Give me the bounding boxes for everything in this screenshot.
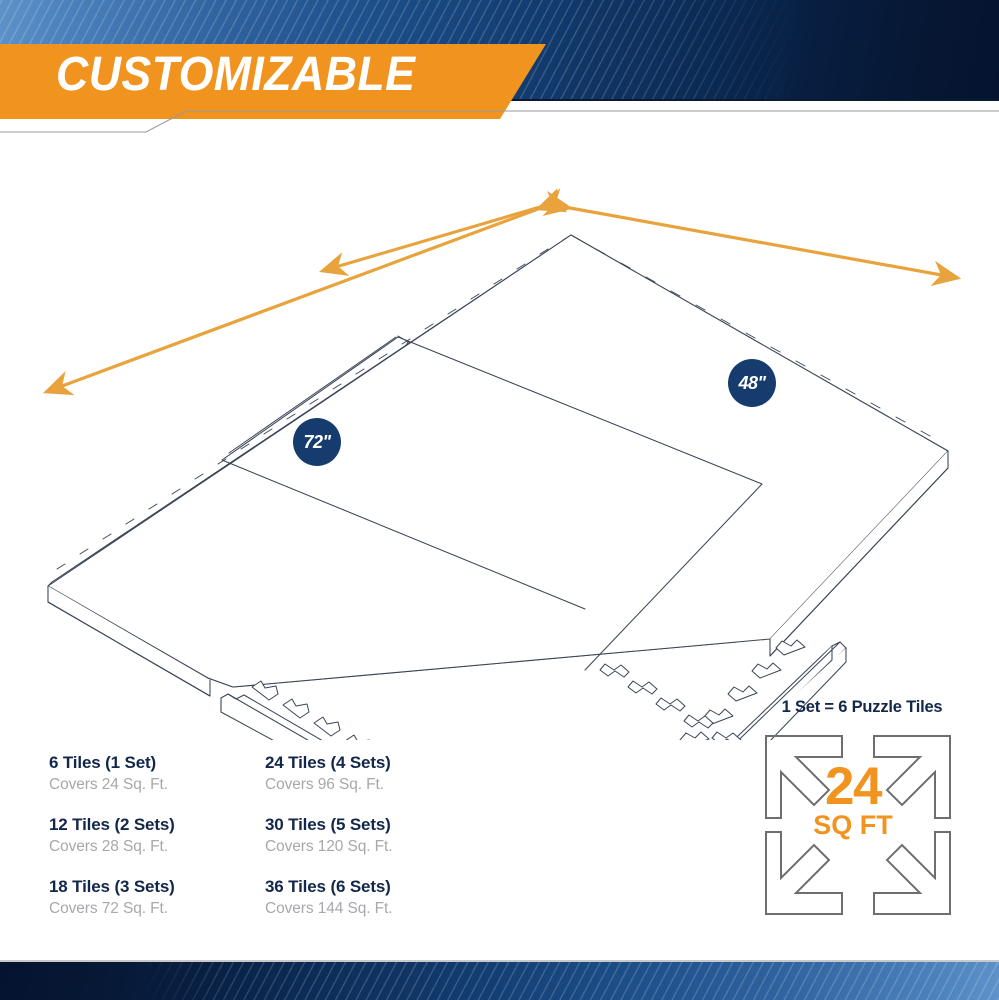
footer-diagonal-stripes [0,962,999,1000]
dimension-badge-width: 48" [728,359,776,407]
product-infographic-page: CUSTOMIZABLE [0,0,999,1000]
sqft-unit: SQ FT [755,812,951,839]
footer-band [0,962,999,1000]
spec-title: 6 Tiles (1 Set) [49,752,264,774]
spec-title: 36 Tiles (6 Sets) [265,876,495,898]
spec-subtitle: Covers 24 Sq. Ft. [49,774,264,795]
dimension-arrow-72 [322,207,540,271]
border-strip-left [221,694,560,740]
spec-column-right: 24 Tiles (4 Sets) Covers 96 Sq. Ft. 30 T… [265,752,495,937]
spec-item: 30 Tiles (5 Sets) Covers 120 Sq. Ft. [265,814,495,858]
set-coverage-badge: 1 Set = 6 Puzzle Tiles 24 SQ FT [755,698,965,717]
header-step-divider [0,110,999,150]
spec-title: 12 Tiles (2 Sets) [49,814,264,836]
mat-front-teeth-detail [600,664,741,740]
spec-item: 36 Tiles (6 Sets) Covers 144 Sq. Ft. [265,876,495,920]
spec-item: 24 Tiles (4 Sets) Covers 96 Sq. Ft. [265,752,495,796]
spec-item: 18 Tiles (3 Sets) Covers 72 Sq. Ft. [49,876,264,920]
spec-item: 6 Tiles (1 Set) Covers 24 Sq. Ft. [49,752,264,796]
set-equals-caption: 1 Set = 6 Puzzle Tiles [759,698,965,717]
spec-item: 12 Tiles (2 Sets) Covers 28 Sq. Ft. [49,814,264,858]
sqft-number: 24 [755,760,951,813]
banner-title: CUSTOMIZABLE [56,47,415,102]
spec-column-left: 6 Tiles (1 Set) Covers 24 Sq. Ft. 12 Til… [49,752,264,937]
spec-title: 30 Tiles (5 Sets) [265,814,495,836]
spec-subtitle: Covers 72 Sq. Ft. [49,898,264,919]
spec-subtitle: Covers 144 Sq. Ft. [265,898,495,919]
spec-subtitle: Covers 96 Sq. Ft. [265,774,495,795]
spec-title: 24 Tiles (4 Sets) [265,752,495,774]
spec-subtitle: Covers 28 Sq. Ft. [49,836,264,857]
puzzle-mat-illustration: 72" 48" [0,150,999,740]
spec-title: 18 Tiles (3 Sets) [49,876,264,898]
spec-subtitle: Covers 120 Sq. Ft. [265,836,495,857]
dimension-badge-length: 72" [293,418,341,466]
mat-structure [48,235,948,696]
